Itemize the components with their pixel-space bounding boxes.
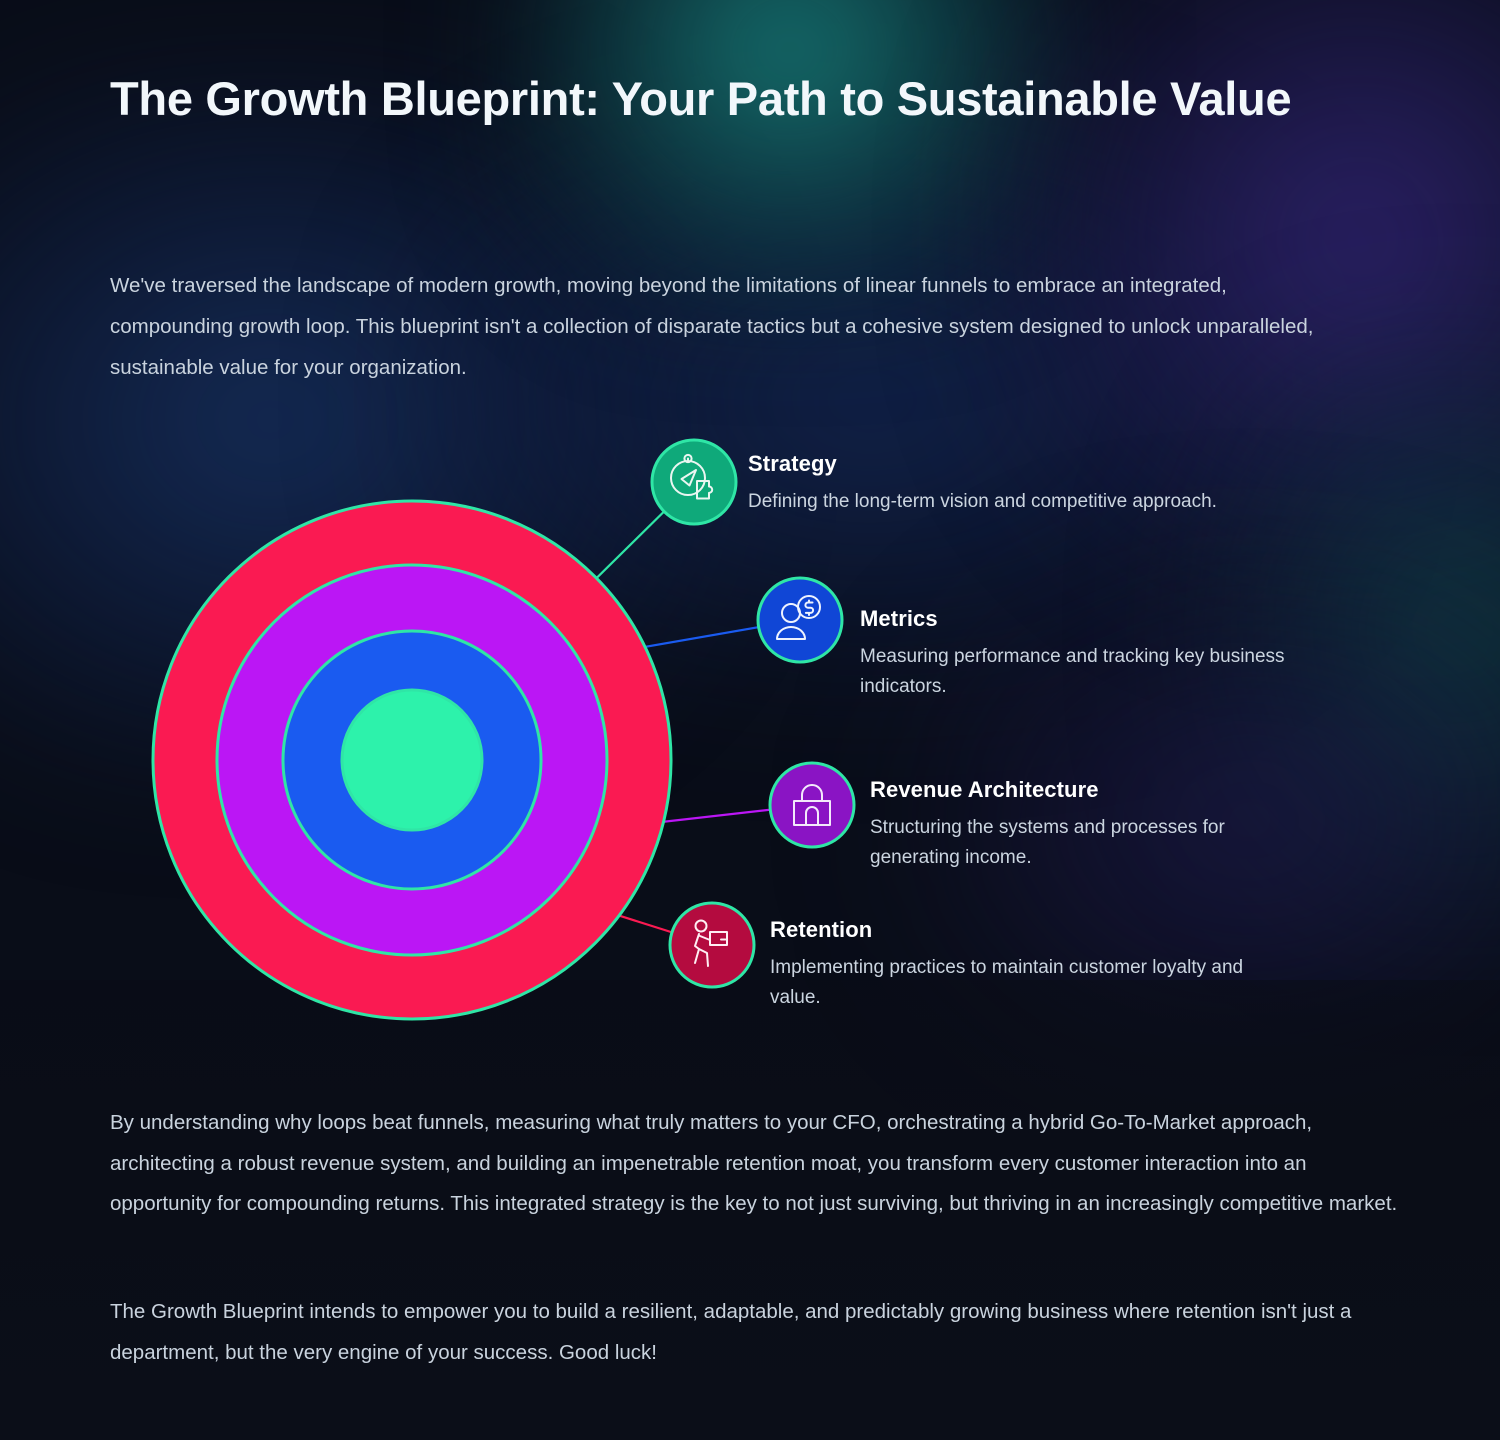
legend-item-metrics[interactable]: Metrics Measuring performance and tracki… (860, 607, 1290, 701)
legend-title-retention: Retention (770, 918, 1250, 942)
legend-icon-revenue-architecture[interactable] (770, 763, 854, 847)
legend-icon-retention[interactable] (670, 903, 754, 987)
legend-item-retention[interactable]: Retention Implementing practices to main… (770, 918, 1250, 1012)
intro-paragraph: We've traversed the landscape of modern … (110, 266, 1355, 388)
outro-paragraph-2: The Growth Blueprint intends to empower … (110, 1292, 1385, 1373)
legend-description-retention: Implementing practices to maintain custo… (770, 953, 1250, 1012)
legend-description-revenue-architecture: Structuring the systems and processes fo… (870, 813, 1310, 872)
legend-item-strategy[interactable]: Strategy Defining the long-term vision a… (748, 452, 1218, 517)
outro-paragraph-1: By understanding why loops beat funnels,… (110, 1103, 1400, 1225)
legend-item-revenue-architecture[interactable]: Revenue Architecture Structuring the sys… (870, 778, 1310, 872)
legend-description-metrics: Measuring performance and tracking key b… (860, 642, 1290, 701)
legend-icon-metrics[interactable] (758, 578, 842, 662)
ring-strategy-core (342, 690, 482, 830)
legend-description-strategy: Defining the long-term vision and compet… (748, 487, 1218, 516)
legend-title-strategy: Strategy (748, 452, 1218, 476)
legend-title-revenue-architecture: Revenue Architecture (870, 778, 1310, 802)
legend-title-metrics: Metrics (860, 607, 1290, 631)
page-title: The Growth Blueprint: Your Path to Susta… (110, 70, 1380, 128)
legend-icon-strategy[interactable] (652, 440, 736, 524)
